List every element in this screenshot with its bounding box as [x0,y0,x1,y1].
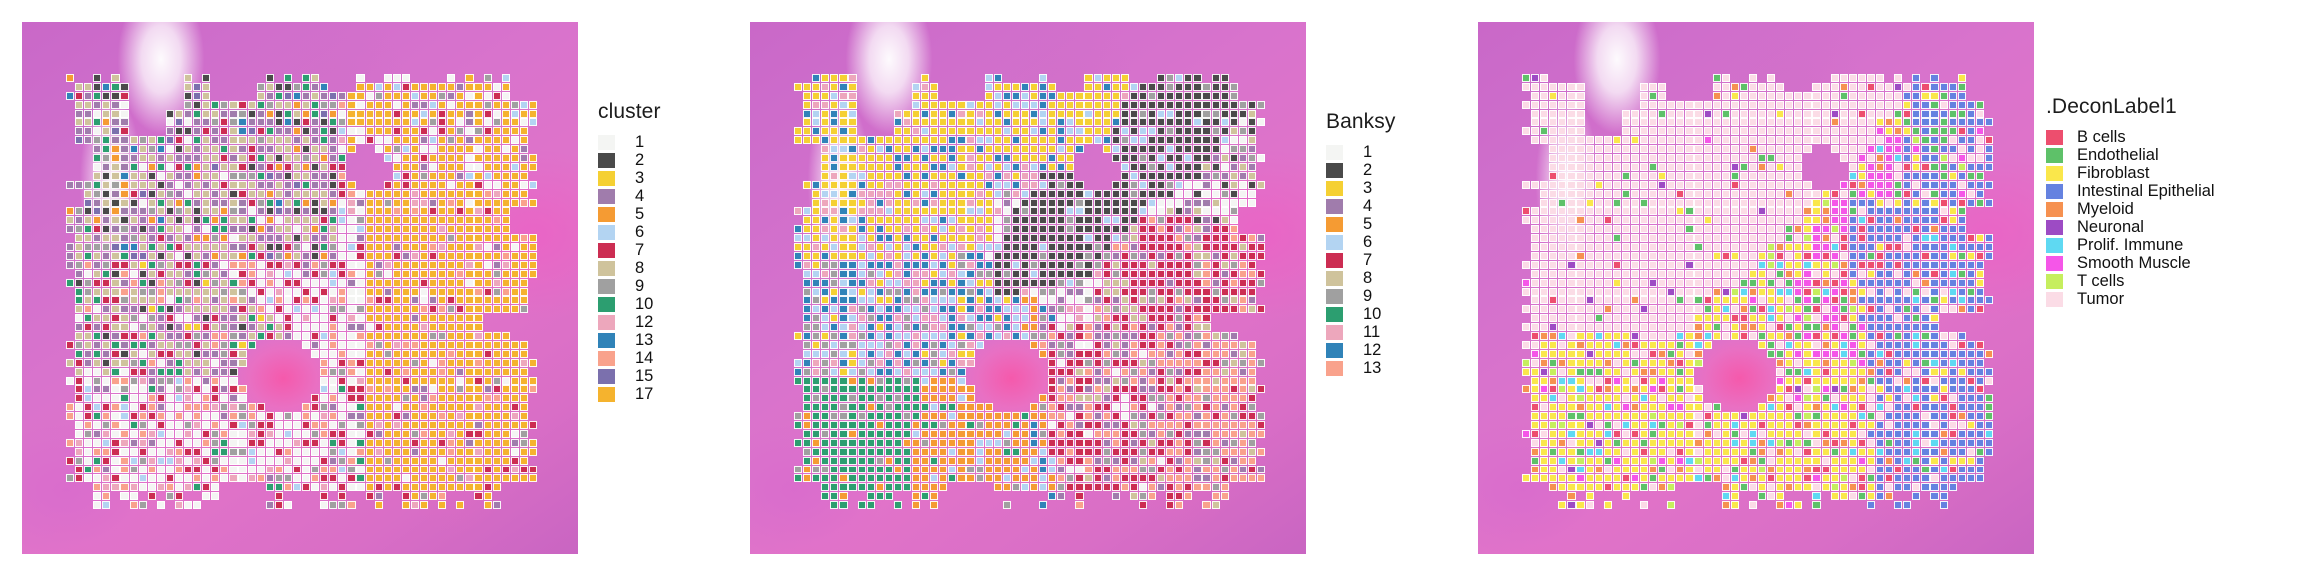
spot [1658,127,1666,135]
spot [1212,483,1220,491]
spot [184,261,192,269]
spot [1112,279,1120,287]
spot [438,341,446,349]
spot [1030,421,1038,429]
legend-row[interactable]: 2 [598,151,661,169]
legend-swatch-icon [598,315,615,330]
legend-row[interactable]: 4 [598,187,661,205]
spot [1021,243,1029,251]
spot [1640,145,1648,153]
spot [1075,296,1083,304]
spot [302,127,310,135]
spot [384,118,392,126]
spot [1230,377,1238,385]
spot [1221,439,1229,447]
spot [511,412,519,420]
spot [976,270,984,278]
legend-row[interactable]: 11 [1326,323,1395,341]
spot [202,261,210,269]
spot [257,403,265,411]
spot [447,83,455,91]
spot [876,474,884,482]
spot [130,154,138,162]
spot [1112,412,1120,420]
spot [966,403,974,411]
legend-row[interactable]: 2 [1326,161,1395,179]
spot [402,314,410,322]
spot [921,172,929,180]
spot [985,296,993,304]
spot [465,403,473,411]
spot [284,261,292,269]
spot [111,474,119,482]
spot [465,430,473,438]
spot [175,412,183,420]
spot [821,145,829,153]
spot [1722,92,1730,100]
spot [894,190,902,198]
spot [1030,190,1038,198]
spot [812,377,820,385]
legend-swatch-icon [1326,271,1343,286]
spot [1048,323,1056,331]
legend-row[interactable]: 3 [598,169,661,187]
spot [1030,181,1038,189]
spot [1912,92,1920,100]
spot [393,457,401,465]
legend-row[interactable]: 10 [1326,305,1395,323]
spot [465,118,473,126]
spot [1921,145,1929,153]
spot [1084,323,1092,331]
spot [284,279,292,287]
spot [529,466,537,474]
spot [1121,225,1129,233]
spot [1567,101,1575,109]
spot [1248,474,1256,482]
legend-row[interactable]: 7 [1326,251,1395,269]
spot [957,377,965,385]
spot [1148,377,1156,385]
spot [202,314,210,322]
spot [302,439,310,447]
spot [1157,136,1165,144]
spot [148,305,156,313]
spot [994,457,1002,465]
legend-row[interactable]: 3 [1326,179,1395,197]
spot [1075,466,1083,474]
spot [347,118,355,126]
spot [511,368,519,376]
spot [948,341,956,349]
spot [1949,154,1957,162]
spot [1613,154,1621,162]
spot [1103,439,1111,447]
spot [438,83,446,91]
spot [175,225,183,233]
spot [320,421,328,429]
spot [393,359,401,367]
spot [1066,243,1074,251]
spot [1112,305,1120,313]
spot [1112,252,1120,260]
legend-row[interactable]: 6 [1326,233,1395,251]
spot [120,243,128,251]
spot [420,421,428,429]
spot [202,216,210,224]
spot [175,501,183,509]
spot [1103,145,1111,153]
plot-area-cluster[interactable] [22,22,578,554]
legend-row[interactable]: 1 [598,133,661,151]
spot [1885,101,1893,109]
spot [266,207,274,215]
spot [830,430,838,438]
spot [1030,466,1038,474]
spot [493,466,501,474]
spot [166,288,174,296]
spot [1212,377,1220,385]
spot [1903,127,1911,135]
spot [803,92,811,100]
spot [1221,279,1229,287]
spot [876,323,884,331]
spot [1112,430,1120,438]
spot [1831,92,1839,100]
spot [1012,448,1020,456]
spot [1940,101,1948,109]
spot [1112,261,1120,269]
spot [157,270,165,278]
spot [465,199,473,207]
spot [1084,359,1092,367]
spot [139,448,147,456]
spot [1057,110,1065,118]
spot [84,466,92,474]
spot [447,368,455,376]
spot [812,403,820,411]
spot [1166,101,1174,109]
spot [1166,377,1174,385]
spot [220,430,228,438]
spot [1057,377,1065,385]
legend-row[interactable]: 12 [1326,341,1395,359]
spot [229,110,237,118]
spot [393,439,401,447]
spot [1549,136,1557,144]
spot [1075,421,1083,429]
spot [1157,439,1165,447]
spot [839,243,847,251]
spot [184,439,192,447]
spot [166,350,174,358]
spot [329,403,337,411]
spot [1094,412,1102,420]
spot [1822,127,1830,135]
spot [939,225,947,233]
spot [1248,359,1256,367]
spot [1212,118,1220,126]
spot [939,288,947,296]
spot [202,430,210,438]
spot [329,305,337,313]
spot [794,412,802,420]
spot [84,412,92,420]
spot [1749,154,1757,162]
spot [966,359,974,367]
spot [930,163,938,171]
spot [1094,332,1102,340]
spot [876,457,884,465]
spot [1202,332,1210,340]
spot [1039,466,1047,474]
spot [1148,261,1156,269]
spot [175,457,183,465]
spot [1075,385,1083,393]
spot [912,377,920,385]
legend-row[interactable]: 8 [598,259,661,277]
plot-area-banksy[interactable] [750,22,1306,554]
spot [238,118,246,126]
spot [903,252,911,260]
legend-row[interactable]: 6 [598,223,661,241]
spot [238,190,246,198]
spot [266,421,274,429]
spot [166,421,174,429]
spot [411,314,419,322]
spot [456,172,464,180]
spot [1066,421,1074,429]
legend-row[interactable]: 5 [598,205,661,223]
spot [1885,92,1893,100]
spot [502,234,510,242]
spot [894,172,902,180]
legend-row[interactable]: 7 [598,241,661,259]
spot [1121,439,1129,447]
spot [903,305,911,313]
spot [848,199,856,207]
spot [220,448,228,456]
spot [1622,118,1630,126]
spot [402,466,410,474]
spot [193,172,201,180]
spot [93,377,101,385]
legend-row[interactable]: 9 [1326,287,1395,305]
spot [1212,163,1220,171]
spot [293,430,301,438]
spot [858,261,866,269]
legend-row[interactable]: 12 [598,313,661,331]
spot [957,207,965,215]
spot [1840,74,1848,82]
spot [1202,163,1210,171]
spot [957,368,965,376]
spot [1057,430,1065,438]
spot [202,92,210,100]
spot [1230,216,1238,224]
spot [930,492,938,500]
spot [1030,207,1038,215]
spot [1903,145,1911,153]
spot [529,439,537,447]
spot [375,501,383,509]
legend-row[interactable]: 13 [1326,359,1395,377]
spot [520,127,528,135]
spot [166,136,174,144]
spot [1649,83,1657,91]
spot [366,190,374,198]
legend-label: 9 [1363,288,1372,305]
spot [1094,101,1102,109]
spot [1531,83,1539,91]
spot [1103,92,1111,100]
spot [402,332,410,340]
spot [484,101,492,109]
spot [1084,412,1092,420]
spot [1057,127,1065,135]
spot [184,296,192,304]
spot [1803,101,1811,109]
spot [474,154,482,162]
spot [1157,252,1165,260]
spot [465,359,473,367]
spot [912,305,920,313]
spot [1221,466,1229,474]
spot [994,412,1002,420]
spot [858,350,866,358]
legend-row[interactable]: 1 [1326,143,1395,161]
spot [248,199,256,207]
spot [93,136,101,144]
spot [839,101,847,109]
spot [329,421,337,429]
legend-row[interactable]: 14 [598,349,661,367]
spot [1148,288,1156,296]
spot [139,359,147,367]
spot [912,483,920,491]
spot [1949,101,1957,109]
spot [1021,110,1029,118]
spot [1166,154,1174,162]
spot [456,412,464,420]
spot [211,145,219,153]
spot [102,83,110,91]
spot [903,359,911,367]
spot [1139,154,1147,162]
spot [66,279,74,287]
spot [293,190,301,198]
spot [157,341,165,349]
spot [1039,457,1047,465]
spot [456,350,464,358]
legend-row[interactable]: 15 [598,367,661,385]
spot [329,350,337,358]
spot [456,421,464,429]
spot [384,225,392,233]
spot [275,234,283,242]
spot [858,225,866,233]
legend-row[interactable]: 4 [1326,197,1395,215]
spot [148,172,156,180]
spot [1758,118,1766,126]
spot [1021,323,1029,331]
spot [966,270,974,278]
legend-row[interactable]: 13 [598,331,661,349]
spot [894,270,902,278]
spot [66,252,74,260]
legend-row[interactable]: 5 [1326,215,1395,233]
plot-area-deconlabel1[interactable] [1478,22,2034,554]
spot [903,136,911,144]
legend-row[interactable]: 17 [598,385,661,403]
spot [175,199,183,207]
spot [948,110,956,118]
spot [1212,74,1220,82]
legend-row[interactable]: 10 [598,295,661,313]
spot [1221,101,1229,109]
spot [93,501,101,509]
spot [948,332,956,340]
spot [447,350,455,358]
spot [1248,261,1256,269]
spot [830,136,838,144]
legend-row[interactable]: 9 [598,277,661,295]
spot [447,190,455,198]
spot [130,252,138,260]
spot [193,279,201,287]
spot [1012,243,1020,251]
spot [257,243,265,251]
spot [366,457,374,465]
spot [1230,154,1238,162]
spot [1094,474,1102,482]
spot [75,270,83,278]
spot [1531,74,1539,82]
spot [1202,118,1210,126]
spot [429,216,437,224]
spot [1722,127,1730,135]
spot [1248,296,1256,304]
spot [885,457,893,465]
spot [238,350,246,358]
spot [402,421,410,429]
spot [474,492,482,500]
spot [84,341,92,349]
spot [1066,252,1074,260]
spot [976,172,984,180]
spot [1894,74,1902,82]
spot [465,181,473,189]
spot [102,305,110,313]
spot [130,288,138,296]
spot [1021,216,1029,224]
spot [1157,145,1165,153]
spot [384,92,392,100]
spot [948,181,956,189]
spot [302,296,310,304]
spot [438,243,446,251]
spot [1175,118,1183,126]
spot [1867,74,1875,82]
spot [130,474,138,482]
spot [1230,190,1238,198]
spot [1057,101,1065,109]
spot [120,234,128,242]
spot [111,145,119,153]
spot [876,483,884,491]
spot [148,288,156,296]
legend-row[interactable]: 8 [1326,269,1395,287]
